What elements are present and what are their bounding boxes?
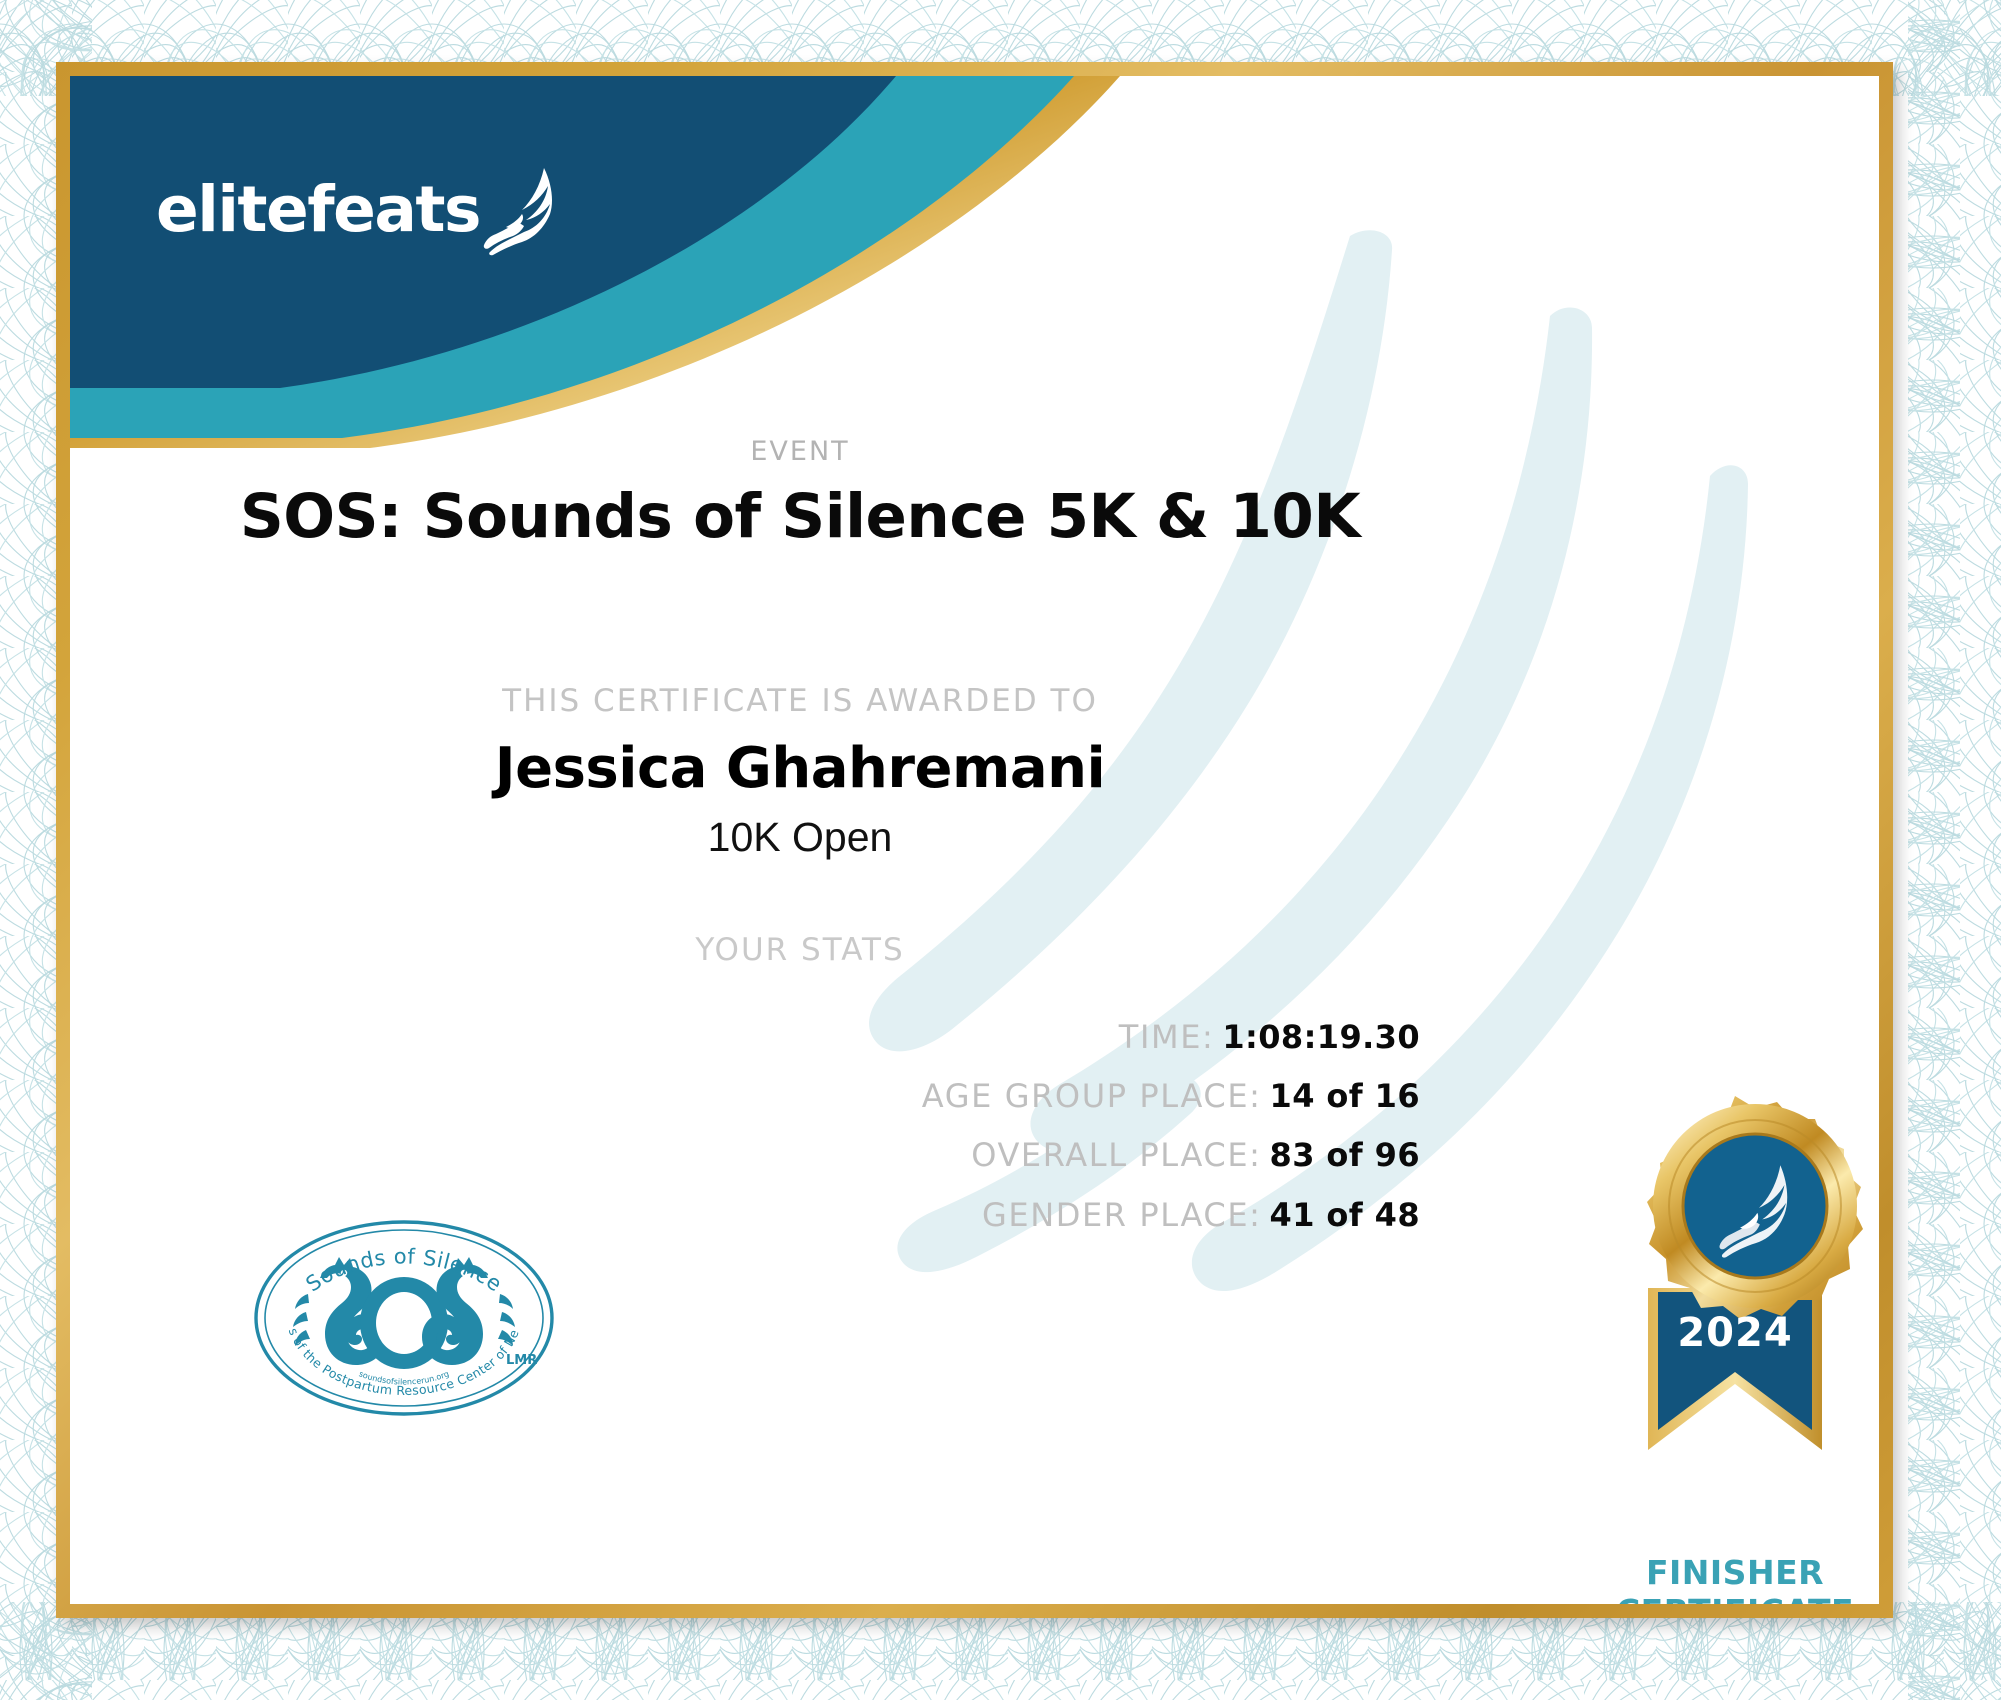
certificate-content: EVENT SOS: Sounds of Silence 5K & 10K TH… xyxy=(70,76,1879,1604)
division-label: 10K Open xyxy=(70,814,1530,861)
stat-key: GENDER PLACE: xyxy=(982,1196,1262,1234)
sos-race-logo: Sounds of Silence Friends of the Postpar… xyxy=(248,1216,560,1421)
stat-row-time: TIME:1:08:19.30 xyxy=(70,1016,1420,1059)
stat-value: 1:08:19.30 xyxy=(1222,1018,1420,1056)
stat-value: 41 of 48 xyxy=(1270,1196,1420,1234)
event-label: EVENT xyxy=(70,436,1530,467)
certificate-card: elitefeats EVENT SOS: Sou xyxy=(70,76,1879,1604)
gold-frame-border: elitefeats EVENT SOS: Sou xyxy=(56,62,1893,1618)
stat-key: AGE GROUP PLACE: xyxy=(922,1077,1262,1115)
stat-value: 14 of 16 xyxy=(1270,1077,1420,1115)
elitefeats-logo: elitefeats xyxy=(156,154,576,264)
certificate-page: elitefeats EVENT SOS: Sou xyxy=(0,0,2001,1700)
stat-value: 83 of 96 xyxy=(1270,1136,1420,1174)
sos-trademark-text: LMR xyxy=(506,1353,537,1368)
awarded-to-label: THIS CERTIFICATE IS AWARDED TO xyxy=(70,683,1530,719)
event-title: SOS: Sounds of Silence 5K & 10K xyxy=(70,481,1530,552)
finisher-caption-line1: FINISHER xyxy=(1540,1554,1879,1593)
stat-key: TIME: xyxy=(1119,1018,1215,1056)
medal-disc xyxy=(1647,1096,1863,1319)
medal-year: 2024 xyxy=(1677,1310,1792,1356)
brand-wordmark: elitefeats xyxy=(156,178,480,241)
stat-row-age-group-place: AGE GROUP PLACE:14 of 16 xyxy=(70,1075,1420,1118)
stat-key: OVERALL PLACE: xyxy=(971,1136,1261,1174)
stat-row-overall-place: OVERALL PLACE:83 of 96 xyxy=(70,1134,1420,1177)
finisher-caption-line2: CERTIFICATE xyxy=(1540,1593,1879,1604)
finisher-caption: FINISHER CERTIFICATE xyxy=(1540,1554,1879,1604)
your-stats-label: YOUR STATS xyxy=(70,932,1530,968)
winged-shoe-icon xyxy=(482,166,556,258)
finisher-medal: 2024 xyxy=(1570,1078,1879,1498)
recipient-name: Jessica Ghahremani xyxy=(70,736,1530,801)
